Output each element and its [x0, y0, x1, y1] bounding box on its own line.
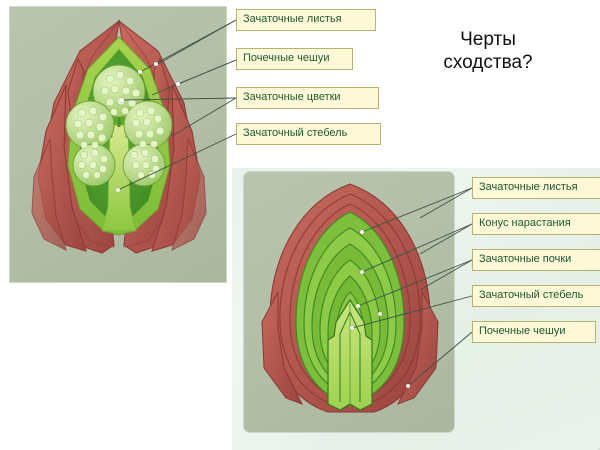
marker-dot	[350, 326, 354, 330]
label-chip-leaf-5[interactable]: Почечные чешуи	[472, 321, 596, 343]
slide-canvas: Зачаточные листья Почечные чешуи Зачаточ…	[0, 0, 600, 450]
slide-title: Черты сходства?	[398, 28, 578, 74]
label-chip-flower-1[interactable]: Зачаточные листья	[236, 9, 376, 31]
figure-leaf-bud-panel	[243, 171, 455, 433]
label-chip-flower-2[interactable]: Почечные чешуи	[236, 48, 353, 70]
marker-dot	[356, 304, 360, 308]
white-paper-bottom-left	[0, 288, 232, 450]
marker-dot	[360, 270, 364, 274]
marker-dot	[116, 188, 120, 192]
label-chip-flower-3[interactable]: Зачаточные цветки	[236, 87, 379, 109]
marker-dot	[360, 230, 364, 234]
marker-dot	[154, 62, 158, 66]
marker-dot	[176, 82, 180, 86]
label-chip-leaf-4[interactable]: Зачаточный стебель	[472, 285, 600, 307]
marker-dot	[120, 98, 124, 102]
label-chip-flower-4[interactable]: Зачаточный стебель	[236, 123, 381, 145]
marker-dot	[378, 312, 382, 316]
label-chip-leaf-3[interactable]: Зачаточные почки	[472, 249, 600, 271]
figure-flower-bud-panel	[9, 6, 227, 283]
marker-dot	[138, 70, 142, 74]
marker-dot	[406, 384, 410, 388]
label-chip-leaf-2[interactable]: Конус нарастания	[472, 213, 600, 235]
figure-leaf-bud-artwork	[244, 172, 454, 432]
label-chip-leaf-1[interactable]: Зачаточные листья	[472, 177, 600, 199]
figure-flower-bud-artwork	[10, 7, 226, 282]
